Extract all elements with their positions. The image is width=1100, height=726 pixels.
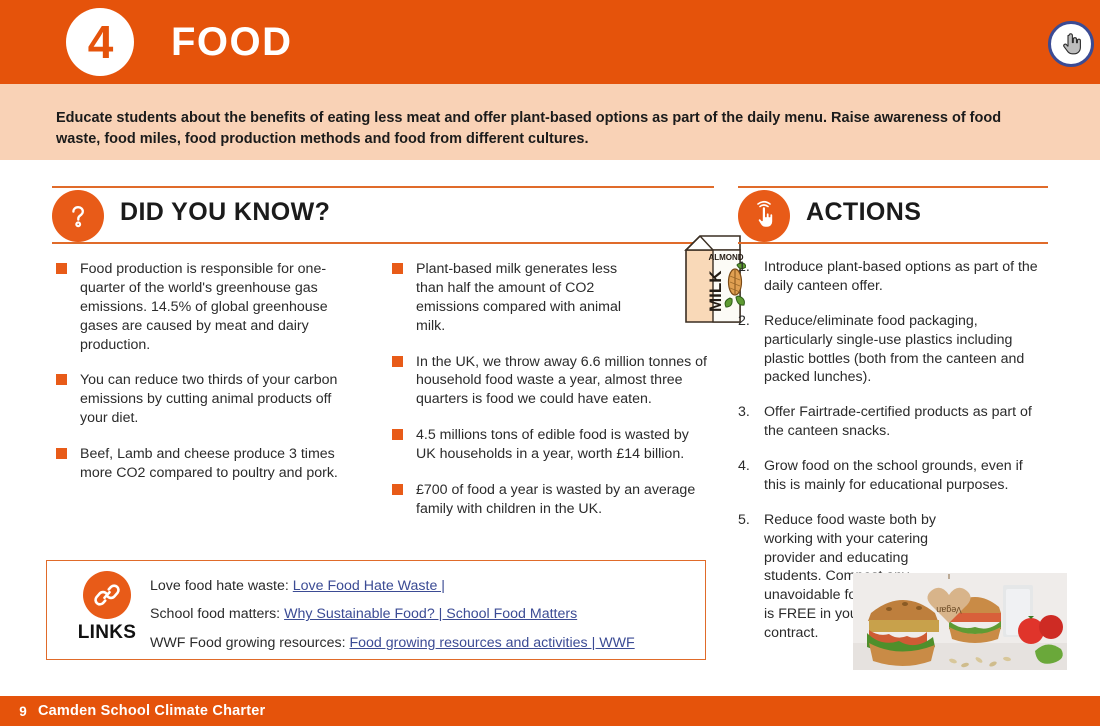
divider-top [738,186,1048,188]
actions-title: ACTIONS [806,198,921,227]
fact-text: Food production is responsible for one-q… [80,261,328,353]
fact-item: You can reduce two thirds of your carbon… [56,371,362,428]
fact-item: Plant-based milk generates less than hal… [392,260,712,336]
section-description-banner: Educate students about the benefits of e… [0,84,1100,160]
fact-item: Food production is responsible for one-q… [56,260,362,354]
link-prefix: WWF Food growing resources: [150,635,346,651]
action-text: Reduce/eliminate food packaging, particu… [764,313,1024,386]
fact-text: Beef, Lamb and cheese produce 3 times mo… [80,446,338,481]
did-you-know-header: DID YOU KNOW? [52,186,714,244]
link-anchor[interactable]: Why Sustainable Food? | School Food Matt… [284,606,577,622]
links-box: LINKS Love food hate waste: Love Food Ha… [46,560,706,660]
divider-bottom [52,242,714,244]
action-item: 1. Introduce plant-based options as part… [738,258,1048,296]
fact-text: You can reduce two thirds of your carbon… [80,372,337,426]
bullet-square-icon [392,263,403,274]
facts-column-b: Plant-based milk generates less than hal… [392,260,712,536]
fact-item: In the UK, we throw away 6.6 million ton… [392,353,712,410]
bullet-square-icon [56,374,67,385]
footer-page-number: 9 [8,704,38,719]
svg-text:Vegan: Vegan [936,605,962,615]
link-row: School food matters: Why Sustainable Foo… [150,605,697,623]
links-label: LINKS [70,622,144,644]
chain-link-icon [92,580,122,610]
vegan-burger-photo: Vegan [853,573,1067,670]
tap-hand-icon [748,200,780,232]
milk-side-label: MILK [706,270,725,312]
bullet-square-icon [392,429,403,440]
fact-text: Plant-based milk generates less than hal… [416,261,621,334]
action-item: 4. Grow food on the school grounds, even… [738,457,1048,495]
bullet-square-icon [56,448,67,459]
action-number: 5. [738,511,750,530]
facts-container: Food production is responsible for one-q… [52,260,714,560]
action-number: 3. [738,403,750,422]
did-you-know-title: DID YOU KNOW? [120,198,330,227]
divider-top [52,186,714,188]
action-number: 4. [738,457,750,476]
action-text: Offer Fairtrade-certified products as pa… [764,404,1032,439]
pointing-hand-badge[interactable] [1048,21,1094,67]
section-description-text: Educate students about the benefits of e… [56,108,1036,149]
fact-text: In the UK, we throw away 6.6 million ton… [416,354,707,408]
action-item: 2. Reduce/eliminate food packaging, part… [738,312,1048,388]
bullet-square-icon [56,263,67,274]
link-row: WWF Food growing resources: Food growing… [150,634,697,652]
actions-badge [738,190,790,242]
fact-text: £700 of food a year is wasted by an aver… [416,482,695,517]
action-number: 1. [738,258,750,277]
page-footer: 9 Camden School Climate Charter [0,696,1100,726]
action-number: 2. [738,312,750,331]
link-row: Love food hate waste: Love Food Hate Was… [150,577,697,595]
page-header: 4 FOOD [0,0,1100,84]
action-item: 3. Offer Fairtrade-certified products as… [738,403,1048,441]
link-anchor[interactable]: Food growing resources and activities | … [349,635,634,651]
almond-milk-carton-illustration: ALMOND MILK [680,230,746,326]
fact-item: Beef, Lamb and cheese produce 3 times mo… [56,445,362,483]
links-badge [83,571,131,619]
footer-title: Camden School Climate Charter [38,703,265,719]
section-number: 4 [88,19,113,65]
fact-item: 4.5 millions tons of edible food is wast… [392,426,712,464]
links-icon-group: LINKS [70,571,144,644]
actions-header: ACTIONS [738,186,1048,244]
question-mark-icon [63,201,93,231]
page-title: FOOD [171,20,293,65]
link-anchor[interactable]: Love Food Hate Waste | [293,578,445,594]
fact-item: £700 of food a year is wasted by an aver… [392,481,712,519]
fact-text: 4.5 millions tons of edible food is wast… [416,427,689,462]
link-prefix: School food matters: [150,606,280,622]
bullet-square-icon [392,356,403,367]
action-text: Grow food on the school grounds, even if… [764,458,1023,493]
link-prefix: Love food hate waste: [150,578,289,594]
bullet-square-icon [392,484,403,495]
action-text: Introduce plant-based options as part of… [764,259,1038,294]
links-list: Love food hate waste: Love Food Hate Was… [150,577,697,662]
divider-bottom [738,242,1048,244]
section-number-badge: 4 [66,8,134,76]
facts-column-a: Food production is responsible for one-q… [56,260,362,500]
question-badge [52,190,104,242]
did-you-know-column: DID YOU KNOW? Food production is respons… [52,186,714,560]
pointing-hand-icon [1058,31,1084,57]
